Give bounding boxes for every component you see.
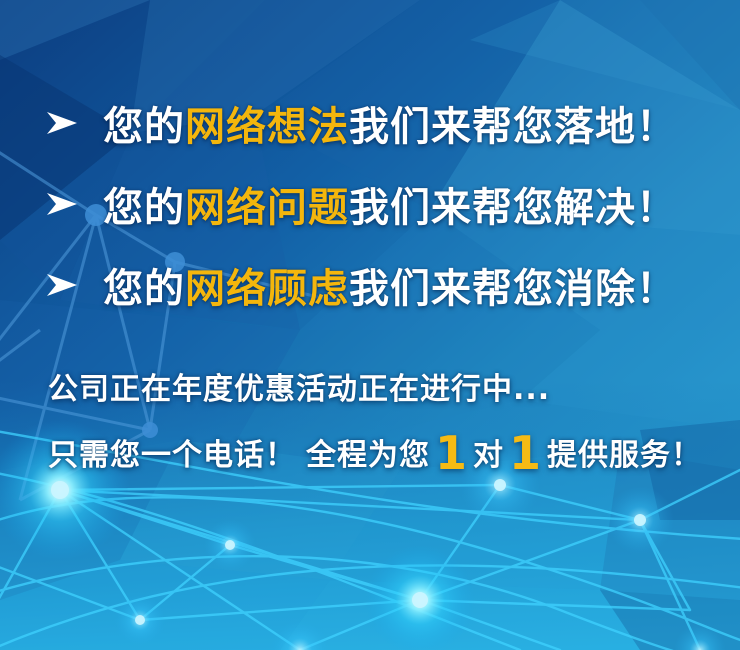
banner-content: 您的网络想法我们来帮您落地！ 您的网络问题我们来帮您解决！ 您的网络顾虑我们来帮… <box>0 0 740 650</box>
bullet-2-prefix: 您的 <box>103 185 185 231</box>
bullet-2-suffix: 我们来帮您解决！ <box>349 185 677 231</box>
subtitle-2-part-3: 对 <box>473 438 504 473</box>
subtitle-line-1: 公司正在年度优惠活动正在进行中... <box>48 364 550 408</box>
bullet-text-1: 您的网络想法我们来帮您落地！ <box>103 94 677 152</box>
bullet-3-highlight: 网络顾虑 <box>185 266 349 312</box>
bullet-row-2: 您的网络问题我们来帮您解决！ <box>0 173 740 235</box>
subtitle-line-2: 只需您一个电话！全程为您1对1提供服务！ <box>48 430 702 474</box>
arrow-right-icon <box>46 192 78 216</box>
bullet-row-1: 您的网络想法我们来帮您落地！ <box>0 92 740 154</box>
subtitle-2-number-1: 1 <box>430 426 473 480</box>
bullet-2-highlight: 网络问题 <box>185 185 349 231</box>
bullet-1-highlight: 网络想法 <box>185 104 349 150</box>
arrow-right-icon <box>46 273 78 297</box>
subtitle-2-number-2: 1 <box>504 426 547 480</box>
subtitle-2-part-1: 只需您一个电话！ <box>48 438 296 473</box>
promo-banner: 您的网络想法我们来帮您落地！ 您的网络问题我们来帮您解决！ 您的网络顾虑我们来帮… <box>0 0 740 650</box>
bullet-1-suffix: 我们来帮您落地！ <box>349 104 677 150</box>
bullet-3-suffix: 我们来帮您消除！ <box>349 266 677 312</box>
bullet-3-prefix: 您的 <box>103 266 185 312</box>
arrow-right-icon <box>46 111 78 135</box>
subtitle-2-part-4: 提供服务！ <box>547 438 702 473</box>
bullet-1-prefix: 您的 <box>103 104 185 150</box>
subtitle-2-part-2: 全程为您 <box>306 438 430 473</box>
bullet-text-2: 您的网络问题我们来帮您解决！ <box>103 175 677 233</box>
bullet-row-3: 您的网络顾虑我们来帮您消除！ <box>0 254 740 316</box>
bullet-text-3: 您的网络顾虑我们来帮您消除！ <box>103 256 677 314</box>
